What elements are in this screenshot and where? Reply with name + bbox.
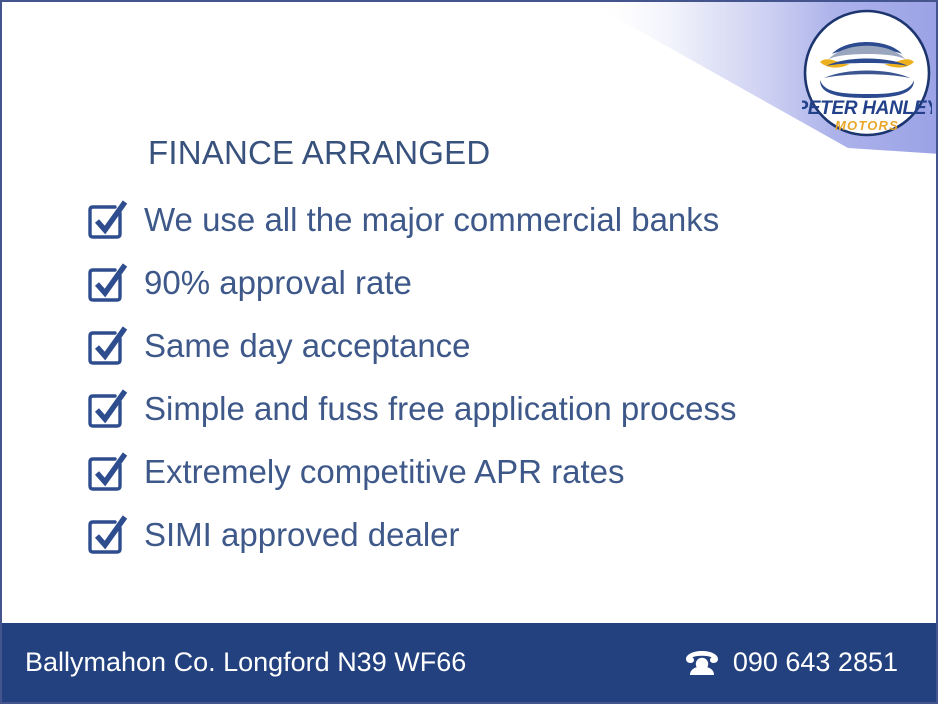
list-item-label: SIMI approved dealer (144, 518, 460, 551)
phone-contact[interactable]: 090 643 2851 (684, 647, 898, 678)
address-text: Ballymahon Co. Longford N39 WF66 (25, 647, 466, 678)
page-title: FINANCE ARRANGED (148, 134, 490, 172)
telephone-icon (684, 648, 720, 678)
checkbox-checked-icon (82, 196, 130, 244)
list-item: Same day acceptance (82, 314, 882, 377)
list-item-label: We use all the major commercial banks (144, 203, 719, 236)
list-item-label: 90% approval rate (144, 266, 412, 299)
list-item: Extremely competitive APR rates (82, 440, 882, 503)
checkbox-checked-icon (82, 322, 130, 370)
list-item: Simple and fuss free application process (82, 377, 882, 440)
checkbox-checked-icon (82, 385, 130, 433)
list-item: We use all the major commercial banks (82, 188, 882, 251)
phone-number: 090 643 2851 (733, 647, 898, 678)
brand-name-primary: PETER HANLEY (802, 98, 932, 119)
list-item: SIMI approved dealer (82, 503, 882, 566)
checkbox-checked-icon (82, 511, 130, 559)
checkbox-checked-icon (82, 448, 130, 496)
benefits-checklist: We use all the major commercial banks 90… (82, 188, 882, 566)
checkbox-checked-icon (82, 259, 130, 307)
list-item: 90% approval rate (82, 251, 882, 314)
contact-footer: Ballymahon Co. Longford N39 WF66 090 643… (2, 623, 936, 702)
finance-arranged-poster: PETER HANLEY MOTORS FINANCE ARRANGED We … (0, 0, 938, 704)
list-item-label: Extremely competitive APR rates (144, 455, 625, 488)
brand-logo-badge: PETER HANLEY MOTORS (802, 8, 932, 138)
list-item-label: Simple and fuss free application process (144, 392, 737, 425)
list-item-label: Same day acceptance (144, 329, 471, 362)
brand-name-secondary: MOTORS (835, 118, 899, 133)
